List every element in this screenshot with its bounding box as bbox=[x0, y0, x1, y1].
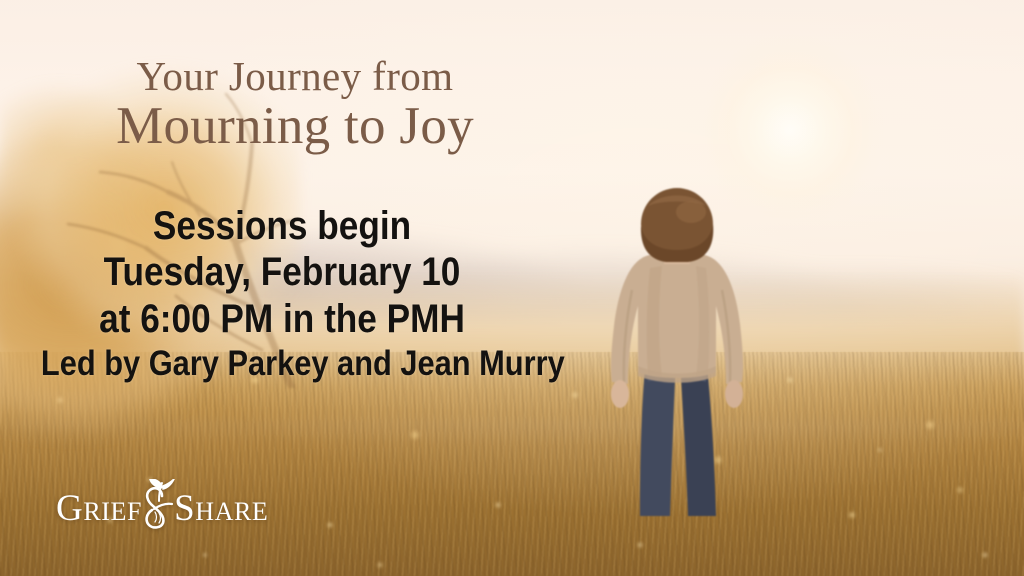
logo-word-grief: Grief bbox=[56, 490, 142, 527]
walking-woman-figure bbox=[588, 186, 768, 516]
poster-headline: Your Journey from Mourning to Joy bbox=[70, 56, 520, 153]
ampersand-sprout-icon bbox=[135, 479, 179, 533]
grass-blade-texture bbox=[0, 352, 1024, 576]
grief-share-announcement-poster: Your Journey from Mourning to Joy Sessio… bbox=[0, 0, 1024, 576]
headline-line-2: Mourning to Joy bbox=[70, 100, 520, 153]
figure-jeans bbox=[640, 350, 716, 517]
figure-neck bbox=[664, 242, 690, 264]
griefshare-logo: Grief Share bbox=[56, 481, 268, 535]
figure-hair bbox=[641, 188, 713, 262]
headline-line-1: Your Journey from bbox=[70, 56, 520, 97]
detail-line-leaders: Led by Gary Parkey and Jean Murry bbox=[41, 344, 523, 385]
detail-line-time-location: at 6:00 PM in the PMH bbox=[41, 296, 523, 342]
detail-line-sessions-begin: Sessions begin bbox=[41, 203, 523, 249]
session-details: Sessions begin Tuesday, February 10 at 6… bbox=[8, 203, 556, 385]
logo-word-share: Share bbox=[174, 490, 268, 527]
figure-hands bbox=[611, 380, 743, 408]
detail-line-date: Tuesday, February 10 bbox=[41, 249, 523, 295]
foreground-grass-field bbox=[0, 352, 1024, 576]
figure-sweater bbox=[611, 252, 743, 384]
